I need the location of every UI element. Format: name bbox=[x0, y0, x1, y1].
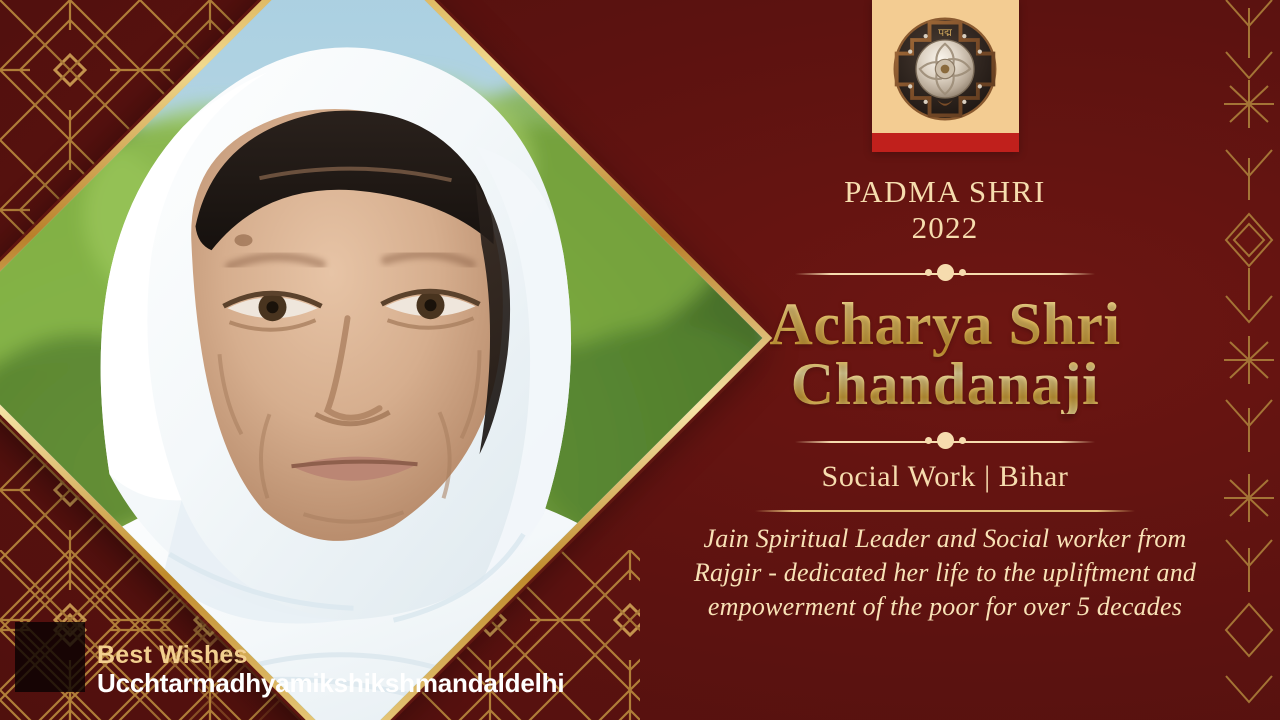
citation-rule bbox=[755, 510, 1135, 512]
medal-devanagari-label: पद्म bbox=[938, 28, 952, 39]
divider-bottom bbox=[795, 430, 1095, 452]
divider-dot-small-left bbox=[925, 269, 932, 276]
field-and-state: Social Work | Bihar bbox=[822, 460, 1069, 494]
honoree-name-line1: Acharya Shri bbox=[770, 294, 1121, 354]
honoree-name: Acharya Shri Chandanaji bbox=[764, 294, 1127, 414]
award-poster: पद्म PADMA SHRI 2022 bbox=[0, 0, 1280, 720]
divider-dot-large bbox=[937, 264, 954, 281]
award-name: PADMA SHRI bbox=[844, 174, 1046, 210]
award-year: 2022 bbox=[912, 210, 979, 246]
padma-shri-medal-icon: पद्म bbox=[887, 11, 1003, 127]
award-details-column: पद्म PADMA SHRI 2022 bbox=[645, 0, 1245, 720]
organization-name: Ucchtarmadhyamikshikshmandaldelhi bbox=[97, 669, 564, 698]
divider-dot-small-right bbox=[959, 269, 966, 276]
best-wishes-block: Best Wishes Ucchtarmadhyamikshikshmandal… bbox=[97, 642, 564, 698]
medal-panel: पद्म bbox=[872, 0, 1019, 152]
divider-dot-small-left bbox=[925, 437, 932, 444]
organization-logo-placeholder bbox=[15, 622, 85, 692]
divider-top bbox=[795, 262, 1095, 284]
greeting-text: Best Wishes bbox=[97, 642, 564, 669]
citation-text: Jain Spiritual Leader and Social worker … bbox=[660, 522, 1230, 625]
medal-red-bar bbox=[872, 133, 1019, 152]
honoree-name-line2: Chandanaji bbox=[770, 354, 1121, 414]
divider-dot-large bbox=[937, 432, 954, 449]
divider-dot-small-right bbox=[959, 437, 966, 444]
